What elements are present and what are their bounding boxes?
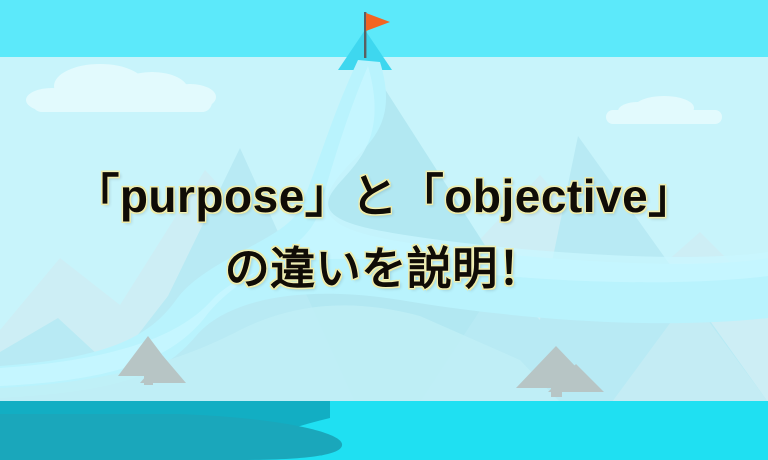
sky-upper-band	[0, 0, 768, 58]
illustration-background	[0, 0, 768, 460]
banner-image: 「purpose」と「objective」 の違いを説明！	[0, 0, 768, 460]
